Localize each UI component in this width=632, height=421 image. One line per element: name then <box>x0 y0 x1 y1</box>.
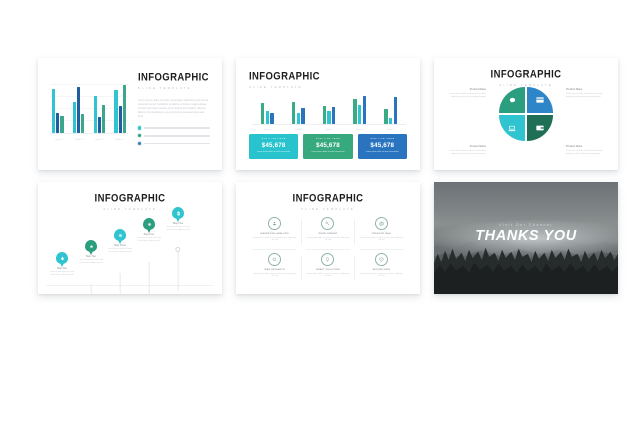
chart-tick-label: Option 1 <box>52 139 66 141</box>
pin-drop-icon <box>56 252 68 264</box>
key-icon <box>321 217 334 230</box>
bullet-dot-icon <box>138 126 141 129</box>
stat-card-value: $45,678 <box>361 142 404 149</box>
list-item <box>138 126 210 129</box>
stat-card-title: SUBTITLE HERE <box>361 138 404 140</box>
slide4-heading: INFOGRAPHIC SLIDE TEMPLATE <box>38 193 222 211</box>
bar-group <box>114 85 126 133</box>
quadrant-segment-top-left[interactable] <box>499 87 525 113</box>
bar-group <box>292 102 305 124</box>
slide4-subtitle: SLIDE TEMPLATE <box>38 207 222 211</box>
slide2-bar-chart: Option 1 Option 2 Option 3 Option 4 Opti… <box>252 94 406 130</box>
feature-text: Lorem ipsum dolor sit amet consectetur a… <box>252 237 297 243</box>
feature-cell[interactable]: CREATIVE IDEA Lorem ipsum dolor sit amet… <box>355 214 408 250</box>
feature-title: DEVELOPMENT <box>305 233 350 235</box>
callout-heading: Product Name <box>566 145 610 148</box>
template-preview-board: Option 1 Option 2 Option 3 Option 4 INFO… <box>0 0 632 421</box>
chart-axis <box>252 124 406 125</box>
pin-star-icon <box>85 240 97 252</box>
slide6-title: THANKS YOU <box>434 229 618 244</box>
chart-tick-label: Option 3 <box>319 129 339 131</box>
callout-heading: Product Name <box>566 88 610 91</box>
slide5-title: INFOGRAPHIC <box>236 192 420 205</box>
feature-text: Lorem ipsum dolor sit amet consectetur a… <box>305 273 350 279</box>
bar-group <box>261 103 274 124</box>
search-icon <box>268 253 281 266</box>
bar-group <box>384 97 397 124</box>
stat-card-title: SUBTITLE HERE <box>306 138 349 140</box>
feature-cell[interactable]: MARKETING ANALYSIS Lorem ipsum dolor sit… <box>248 214 301 250</box>
list-item <box>138 142 210 145</box>
feature-cell[interactable]: SMART SOLUTIONS Lorem ipsum dolor sit am… <box>301 250 354 286</box>
feature-title: WEB RESEARCH <box>252 269 297 271</box>
callout-top-left: Product Name Lorem ipsum dolor sit amet … <box>442 88 486 99</box>
lightbulb-icon <box>321 253 334 266</box>
chart-tick-label: Option 5 <box>381 129 401 131</box>
bullet-dot-icon <box>138 134 141 137</box>
callout-text: Lorem ipsum dolor sit amet consectetur a… <box>566 93 610 99</box>
slide4-title: INFOGRAPHIC <box>38 192 222 205</box>
chart-axis <box>50 133 128 134</box>
stat-card[interactable]: SUBTITLE HERE $45,678 Lorem ipsum dolor … <box>303 134 352 159</box>
callout-bottom-right: Product Name Lorem ipsum dolor sit amet … <box>566 145 610 156</box>
quadrant-segment-top-right[interactable] <box>527 87 553 113</box>
slide-thumbnail-icon-grid[interactable]: INFOGRAPHIC SLIDE TEMPLATE MARKETING ANA… <box>236 182 420 294</box>
bullet-text-placeholder <box>144 135 210 137</box>
credit-card-icon <box>536 97 544 103</box>
chart-tick-label: Option 4 <box>112 139 126 141</box>
stat-card-desc: Lorem ipsum dolor sit amet consectetur <box>306 151 349 154</box>
slide1-title: INFOGRAPHIC <box>138 71 210 84</box>
slide1-bullet-list <box>138 126 210 145</box>
step-label: Step Four <box>133 234 165 236</box>
callout-top-right: Product Name Lorem ipsum dolor sit amet … <box>566 88 610 99</box>
timeline-step[interactable]: Step One Lorem ipsum dolor sit amet cons… <box>46 252 78 277</box>
misty-forest-photo: Visit Our Channel THANKS YOU <box>434 182 618 294</box>
quadrant-segment-bottom-left[interactable] <box>499 115 525 141</box>
slide-thumbnail-timeline-pins[interactable]: INFOGRAPHIC SLIDE TEMPLATE Step One Lore… <box>38 182 222 294</box>
bar-group <box>52 89 64 133</box>
feature-text: Lorem ipsum dolor sit amet consectetur a… <box>305 237 350 243</box>
feature-text: Lorem ipsum dolor sit amet consectetur a… <box>359 237 404 243</box>
slide1-text-column: INFOGRAPHIC SLIDE TEMPLATE Lorem ipsum d… <box>138 72 210 145</box>
callout-text: Lorem ipsum dolor sit amet consectetur a… <box>566 150 610 156</box>
slide2-subtitle: SLIDE TEMPLATE <box>249 85 320 89</box>
stat-card-desc: Lorem ipsum dolor sit amet consectetur <box>252 151 295 154</box>
slide1-body-text: Lorem ipsum dolor sit amet consectetur a… <box>138 99 210 119</box>
chart-tick-label: Option 1 <box>257 129 277 131</box>
slide1-bar-chart: Option 1 Option 2 Option 3 Option 4 <box>50 80 128 142</box>
step-text: Lorem ipsum dolor sit amet consectetur a… <box>46 271 78 277</box>
step-text: Lorem ipsum dolor sit amet consectetur a… <box>75 259 107 265</box>
callout-heading: Product Name <box>442 88 486 91</box>
feature-title: SMART SOLUTIONS <box>305 269 350 271</box>
stat-card[interactable]: SUBTITLE HERE $45,678 Lorem ipsum dolor … <box>249 134 298 159</box>
slide-thumbnail-bar-chart-text[interactable]: Option 1 Option 2 Option 3 Option 4 INFO… <box>38 58 222 170</box>
feature-text: Lorem ipsum dolor sit amet consectetur a… <box>359 273 404 279</box>
feature-cell[interactable]: SECURE DATA Lorem ipsum dolor sit amet c… <box>355 250 408 286</box>
chart-category-labels: Option 1 Option 2 Option 3 Option 4 Opti… <box>252 129 406 131</box>
timeline-stage: Step One Lorem ipsum dolor sit amet cons… <box>46 212 214 288</box>
step-text: Lorem ipsum dolor sit amet consectetur a… <box>162 226 194 232</box>
slide3-heading: INFOGRAPHIC SLIDE TEMPLATE <box>434 69 618 87</box>
step-text: Lorem ipsum dolor sit amet consectetur a… <box>104 248 136 254</box>
bar-group <box>353 96 366 124</box>
stat-card-title: SUBTITLE HERE <box>252 138 295 140</box>
slide5-heading: INFOGRAPHIC SLIDE TEMPLATE <box>236 193 420 211</box>
feature-text: Lorem ipsum dolor sit amet consectetur a… <box>252 273 297 279</box>
callout-text: Lorem ipsum dolor sit amet consectetur a… <box>442 93 486 99</box>
slide2-heading: INFOGRAPHIC SLIDE TEMPLATE <box>249 71 320 89</box>
bullet-text-placeholder <box>144 143 210 145</box>
speech-bubble-icon <box>509 97 516 104</box>
bullet-dot-icon <box>138 142 141 145</box>
slide3-title: INFOGRAPHIC <box>434 68 618 81</box>
chart-tick-label: Option 4 <box>350 129 370 131</box>
chart-bar-groups <box>252 94 406 124</box>
thank-you-text-block: Visit Our Channel THANKS YOU <box>434 223 618 244</box>
bar-group <box>323 106 336 124</box>
quadrant-pie-chart <box>499 87 553 141</box>
gear-icon <box>175 247 180 252</box>
slide2-title: INFOGRAPHIC <box>249 70 320 83</box>
chart-tick-label: Option 3 <box>92 139 106 141</box>
timeline-step[interactable]: Step Three Lorem ipsum dolor sit amet co… <box>104 229 136 254</box>
quadrant-segment-bottom-right[interactable] <box>527 115 553 141</box>
timeline-step[interactable]: Step Five Lorem ipsum dolor sit amet con… <box>162 207 194 232</box>
wallet-icon <box>536 125 544 131</box>
slide1-subtitle: SLIDE TEMPLATE <box>138 86 210 90</box>
step-label: Step Three <box>104 245 136 247</box>
callout-bottom-left: Product Name Lorem ipsum dolor sit amet … <box>442 145 486 156</box>
bar-group <box>73 87 85 133</box>
callout-text: Lorem ipsum dolor sit amet consectetur a… <box>442 150 486 156</box>
stat-card-value: $45,678 <box>306 142 349 149</box>
timeline-baseline <box>46 285 214 286</box>
step-label: Step Two <box>75 256 107 258</box>
step-text: Lorem ipsum dolor sit amet consectetur a… <box>133 237 165 243</box>
feature-title: SECURE DATA <box>359 269 404 271</box>
pin-target-icon <box>114 229 126 241</box>
feature-title: MARKETING ANALYSIS <box>252 233 297 235</box>
bullet-text-placeholder <box>144 127 210 129</box>
camera-icon <box>375 217 388 230</box>
pin-doc-icon <box>172 207 184 219</box>
stat-card-desc: Lorem ipsum dolor sit amet consectetur <box>361 151 404 154</box>
pin-gear-icon <box>143 218 155 230</box>
shield-icon <box>375 253 388 266</box>
chart-bar-groups <box>52 83 126 133</box>
stat-card[interactable]: SUBTITLE HERE $45,678 Lorem ipsum dolor … <box>358 134 407 159</box>
slide-thumbnail-quadrant-circle[interactable]: INFOGRAPHIC SLIDE TEMPLATE Product Name … <box>434 58 618 170</box>
feature-grid: MARKETING ANALYSIS Lorem ipsum dolor sit… <box>248 214 408 286</box>
slide2-stat-cards: SUBTITLE HERE $45,678 Lorem ipsum dolor … <box>249 134 407 159</box>
feature-title: CREATIVE IDEA <box>359 233 404 235</box>
feature-cell[interactable]: DEVELOPMENT Lorem ipsum dolor sit amet c… <box>301 214 354 250</box>
timeline-step[interactable]: Step Four Lorem ipsum dolor sit amet con… <box>133 218 165 243</box>
user-icon <box>268 217 281 230</box>
step-label: Step One <box>46 268 78 270</box>
chart-category-labels: Option 1 Option 2 Option 3 Option 4 <box>52 139 126 141</box>
timeline-step[interactable]: Step Two Lorem ipsum dolor sit amet cons… <box>75 240 107 265</box>
bar-group <box>94 96 106 133</box>
slide5-subtitle: SLIDE TEMPLATE <box>236 207 420 211</box>
chart-tick-label: Option 2 <box>288 129 308 131</box>
laptop-icon <box>508 125 516 132</box>
step-label: Step Five <box>162 223 194 225</box>
feature-cell[interactable]: WEB RESEARCH Lorem ipsum dolor sit amet … <box>248 250 301 286</box>
slide-grid: Option 1 Option 2 Option 3 Option 4 INFO… <box>38 58 618 294</box>
chart-tick-label: Option 2 <box>72 139 86 141</box>
slide6-pretitle: Visit Our Channel <box>434 223 618 227</box>
slide-thumbnail-thank-you[interactable]: Visit Our Channel THANKS YOU <box>434 182 618 294</box>
list-item <box>138 134 210 137</box>
callout-heading: Product Name <box>442 145 486 148</box>
stat-card-value: $45,678 <box>252 142 295 149</box>
slide-thumbnail-bar-chart-cards[interactable]: INFOGRAPHIC SLIDE TEMPLATE Option 1 Opt <box>236 58 420 170</box>
